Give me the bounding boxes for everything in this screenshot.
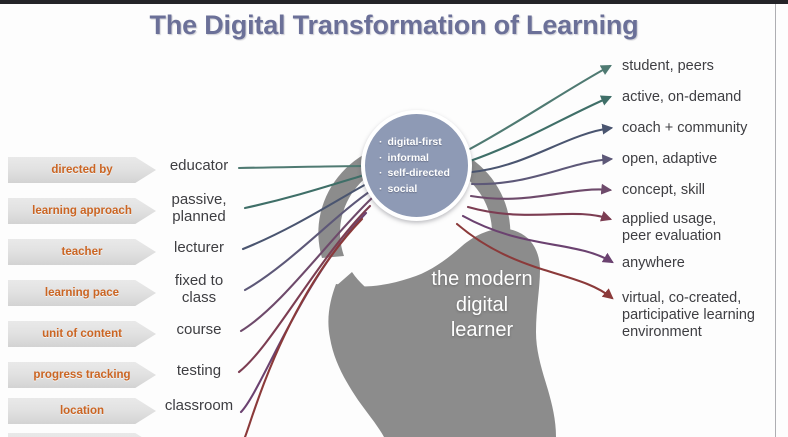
new-value-location: anywhere — [622, 255, 782, 272]
old-value-location: classroom — [156, 398, 242, 415]
new-value-unit-of-content: concept, skill — [622, 182, 782, 199]
category-chevron-learning-approach[interactable]: learning approach — [8, 198, 156, 224]
head-caption-line-0: the modern — [388, 267, 576, 293]
category-chevron-directed-by[interactable]: directed by — [8, 157, 156, 183]
category-chevron-progress-tracking[interactable]: progress tracking — [8, 362, 156, 388]
new-value-environment: virtual, co-created,participative learni… — [622, 290, 782, 341]
category-label: learning approach — [18, 205, 146, 217]
circle-bullet-2: self-directed — [379, 166, 468, 182]
category-chevron-location[interactable]: location — [8, 398, 156, 424]
old-value-progress-tracking: testing — [156, 363, 242, 380]
head-caption-line-2: learner — [388, 318, 576, 344]
head-caption: the modern digital learner — [388, 267, 576, 344]
new-value-learning-pace: open, adaptive — [622, 151, 782, 168]
head-caption-line-1: digital — [388, 293, 576, 319]
old-value-learning-pace: fixed toclass — [156, 273, 242, 307]
category-label: teacher — [18, 246, 146, 258]
category-label: progress tracking — [18, 369, 146, 381]
old-value-learning-approach: passive,planned — [156, 192, 242, 226]
category-label: unit of content — [18, 328, 146, 340]
new-value-teacher: coach + community — [622, 120, 782, 137]
new-value-directed-by: student, peers — [622, 58, 782, 75]
old-value-teacher: lecturer — [156, 240, 242, 257]
category-chevron-learning-pace[interactable]: learning pace — [8, 280, 156, 306]
old-value-unit-of-content: course — [156, 322, 242, 339]
category-chevron-partial[interactable] — [8, 433, 156, 437]
new-value-learning-approach: active, on-demand — [622, 89, 782, 106]
digital-learner-attributes-circle: digital-first informal self-directed soc… — [361, 110, 472, 221]
infographic-canvas: The Digital Transformation of Learning — [0, 0, 788, 437]
circle-bullet-list: digital-first informal self-directed soc… — [365, 114, 468, 197]
category-label: learning pace — [18, 287, 146, 299]
old-value-directed-by: educator — [156, 158, 242, 175]
circle-bullet-3: social — [379, 182, 468, 198]
category-label: location — [18, 405, 146, 417]
category-label: directed by — [18, 164, 146, 176]
category-chevron-teacher[interactable]: teacher — [8, 239, 156, 265]
new-value-progress-tracking: applied usage,peer evaluation — [622, 211, 782, 245]
circle-bullet-0: digital-first — [379, 135, 468, 151]
circle-bullet-1: informal — [379, 151, 468, 167]
category-chevron-unit-of-content[interactable]: unit of content — [8, 321, 156, 347]
